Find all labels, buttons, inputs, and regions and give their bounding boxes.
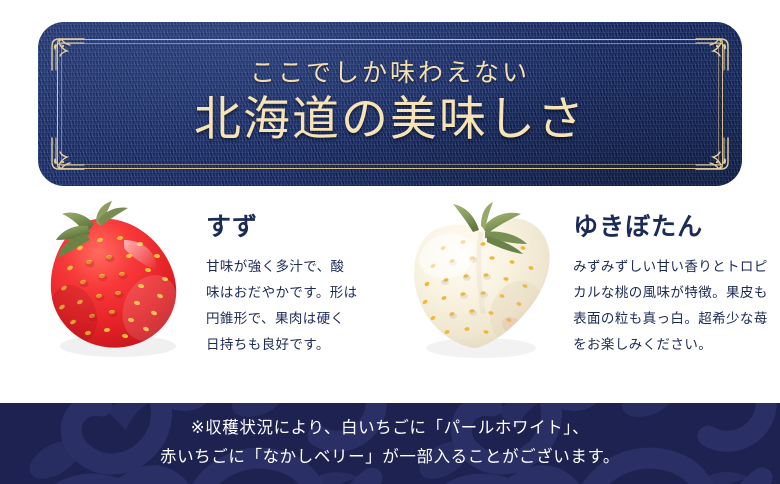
- white-strawberry-image: [395, 196, 567, 366]
- variety-card-suzu: すず 甘味が強く多汁で、酸味はおだやかです。形は円錐形で、果肉は硬く日持ちも良好…: [0, 196, 393, 396]
- variety-text-yukibotan: ゆきぼたん みずみずしい甘い香りとトロピカルな桃の風味が特徴。果皮も表面の粒も真…: [573, 196, 773, 359]
- footer-text-block: ※収穫状況により、白いちごに「パールホワイト」、 赤いちごに「なかしベリー」が一…: [0, 403, 780, 484]
- variety-text-suzu: すず 甘味が強く多汁で、酸味はおだやかです。形は円錐形で、果肉は硬く日持ちも良好…: [206, 196, 358, 359]
- variety-name-suzu: すず: [206, 214, 358, 242]
- hero-banner: ここでしか味わえない 北海道の美味しさ: [38, 22, 742, 186]
- variety-name-yukibotan: ゆきぼたん: [573, 214, 773, 242]
- footer-note-bar: ※収穫状況により、白いちごに「パールホワイト」、 赤いちごに「なかしベリー」が一…: [0, 403, 780, 484]
- variety-cards: すず 甘味が強く多汁で、酸味はおだやかです。形は円錐形で、果肉は硬く日持ちも良好…: [0, 196, 780, 396]
- footer-note-line-2: 赤いちごに「なかしベリー」が一部入ることがございます。: [160, 445, 620, 471]
- hero-title: 北海道の美味しさ: [194, 93, 586, 148]
- variety-description-yukibotan: みずみずしい甘い香りとトロピカルな桃の風味が特徴。果皮も表面の粒も真っ白。超希少…: [573, 254, 773, 359]
- red-strawberry-image: [28, 196, 200, 366]
- variety-card-yukibotan: ゆきぼたん みずみずしい甘い香りとトロピカルな桃の風味が特徴。果皮も表面の粒も真…: [393, 196, 780, 396]
- hero-subtitle: ここでしか味わえない: [250, 60, 530, 88]
- footer-note-line-1: ※収穫状況により、白いちごに「パールホワイト」、: [191, 416, 590, 442]
- hero-text-block: ここでしか味わえない 北海道の美味しさ: [38, 22, 742, 186]
- variety-description-suzu: 甘味が強く多汁で、酸味はおだやかです。形は円錐形で、果肉は硬く日持ちも良好です。: [206, 254, 358, 359]
